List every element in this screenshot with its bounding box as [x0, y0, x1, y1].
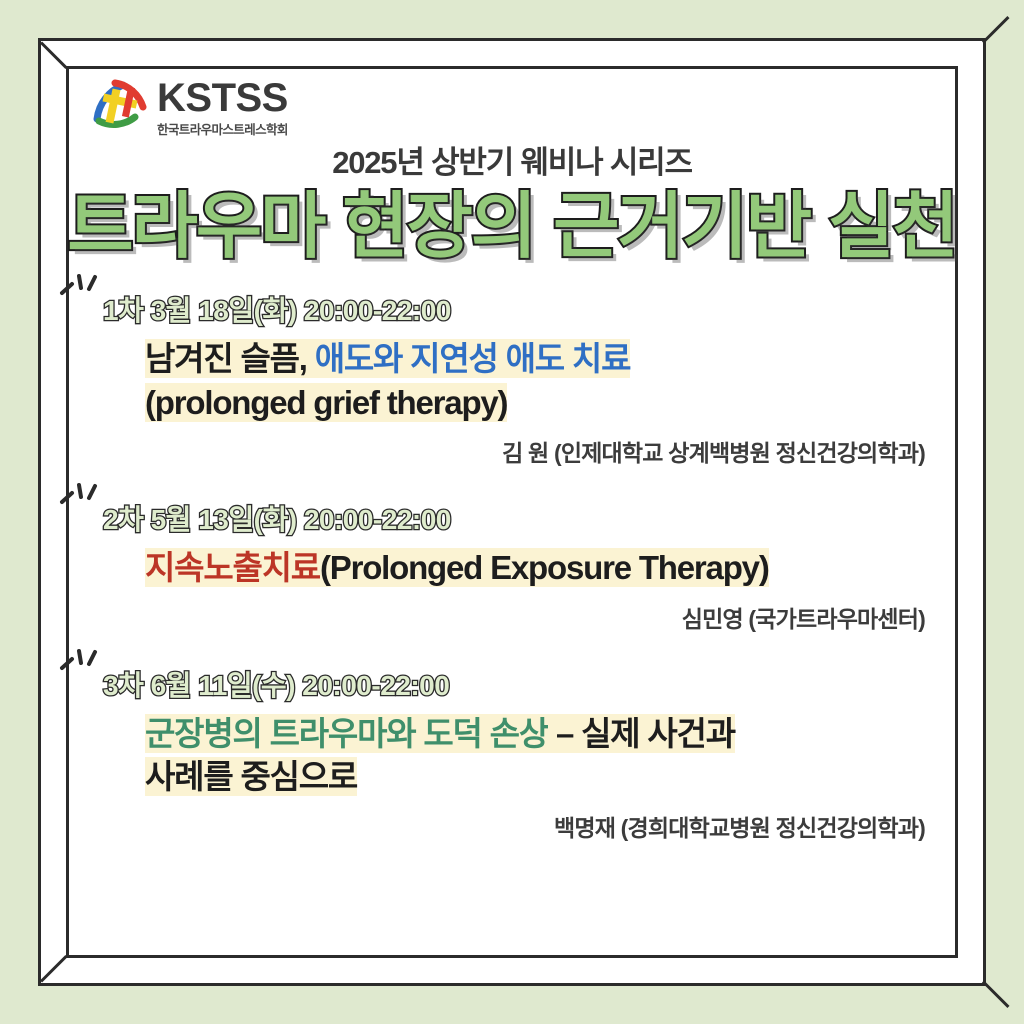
session-schedule-label: 3차 6월 11일(수) 20:00-22:00: [103, 670, 449, 701]
session-title-segment: – 실제 사건과: [548, 714, 735, 753]
session-title-line: (prolonged grief therapy): [145, 381, 933, 425]
session-title-line: 남겨진 슬픔, 애도와 지연성 애도 치료: [145, 337, 933, 381]
kstss-logo-mark-icon: [89, 73, 151, 135]
session-schedule-label: 2차 5월 13일(화) 20:00-22:00: [103, 504, 451, 535]
session-title-line: 사례를 중심으로: [145, 755, 933, 799]
session-title-segment: (Prolonged Exposure Therapy): [320, 548, 769, 587]
series-subtitle: 2025년 상반기 웨비나 시리즈: [41, 137, 983, 182]
session-meta-row: 3차 6월 11일(수) 20:00-22:00: [41, 664, 983, 706]
poster-content: KSTSS 한국트라우마스트레스학회 2025년 상반기 웨비나 시리즈 트라우…: [41, 41, 983, 983]
session-2: 2차 5월 13일(화) 20:00-22:00지속노출치료(Prolonged…: [41, 498, 983, 634]
session-3: 3차 6월 11일(수) 20:00-22:00군장병의 트라우마와 도덕 손상…: [41, 664, 983, 843]
session-title-segment: 사례를 중심으로: [145, 757, 357, 796]
session-title-block: 남겨진 슬픔, 애도와 지연성 애도 치료(prolonged grief th…: [41, 337, 983, 424]
session-meta-row: 1차 3월 18일(화) 20:00-22:00: [41, 289, 983, 331]
session-title-line: 군장병의 트라우마와 도덕 손상 – 실제 사건과: [145, 712, 933, 756]
session-title-line: 지속노출치료(Prolonged Exposure Therapy): [145, 546, 933, 590]
session-speaker: 김 원 (인제대학교 상계백병원 정신건강의학과): [41, 434, 983, 468]
session-title-block: 군장병의 트라우마와 도덕 손상 – 실제 사건과사례를 중심으로: [41, 712, 983, 799]
poster-frame: KSTSS 한국트라우마스트레스학회 2025년 상반기 웨비나 시리즈 트라우…: [38, 38, 986, 986]
frame-corner-bottom-right: [982, 980, 1010, 1008]
sparkle-icon: [59, 482, 107, 512]
session-title-segment: 남겨진 슬픔,: [145, 339, 315, 378]
session-title-segment: 애도와 지연성 애도 치료: [315, 339, 631, 378]
session-title-segment: 지속노출치료: [145, 548, 320, 587]
sparkle-icon: [59, 648, 107, 678]
session-speaker: 심민영 (국가트라우마센터): [41, 600, 983, 634]
kstss-logo: KSTSS 한국트라우마스트레스학회: [89, 73, 288, 138]
session-1: 1차 3월 18일(화) 20:00-22:00남겨진 슬픔, 애도와 지연성 …: [41, 289, 983, 468]
logo-subtext: 한국트라우마스트레스학회: [157, 119, 288, 138]
session-meta-row: 2차 5월 13일(화) 20:00-22:00: [41, 498, 983, 540]
session-schedule-label: 1차 3월 18일(화) 20:00-22:00: [103, 295, 451, 326]
logo-text-block: KSTSS 한국트라우마스트레스학회: [157, 79, 288, 138]
logo-wordmark: KSTSS: [157, 79, 288, 117]
sparkle-icon: [59, 273, 107, 303]
session-title-block: 지속노출치료(Prolonged Exposure Therapy): [41, 546, 983, 590]
page-title: 트라우마 현장의 근거기반 실천: [41, 190, 983, 266]
session-speaker: 백명재 (경희대학교병원 정신건강의학과): [41, 809, 983, 843]
session-title-segment: 군장병의 트라우마와 도덕 손상: [145, 714, 548, 753]
session-title-segment: (prolonged grief therapy): [145, 383, 507, 422]
session-list: 1차 3월 18일(화) 20:00-22:00남겨진 슬픔, 애도와 지연성 …: [41, 289, 983, 843]
headline: 2025년 상반기 웨비나 시리즈 트라우마 현장의 근거기반 실천: [41, 137, 983, 266]
frame-corner-top-right: [982, 16, 1010, 44]
